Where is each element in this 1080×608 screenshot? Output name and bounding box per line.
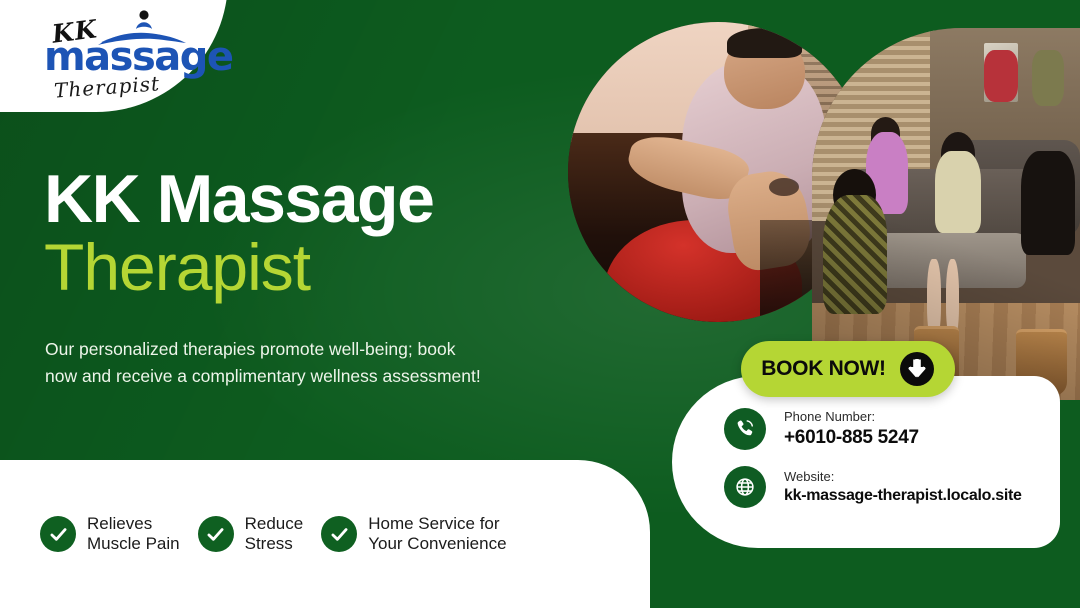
globe-icon: [724, 466, 766, 508]
arrow-down-circle-icon: [899, 351, 935, 387]
features-list: Relieves Muscle Pain Reduce Stress Home …: [40, 514, 507, 555]
feature-item: Home Service for Your Convenience: [321, 514, 506, 555]
brand-logo[interactable]: KK massage Therapist: [34, 15, 194, 97]
feature-item: Relieves Muscle Pain: [40, 514, 180, 555]
check-circle-icon: [321, 516, 357, 552]
book-now-label: BOOK NOW!: [761, 357, 885, 381]
logo-panel: KK massage Therapist: [0, 0, 228, 112]
website-value: kk-massage-therapist.localo.site: [784, 486, 1022, 507]
contact-row-website[interactable]: Website: kk-massage-therapist.localo.sit…: [724, 466, 1022, 508]
contact-card: Phone Number: +6010-885 5247 Website: kk…: [672, 376, 1060, 548]
headline-block: KK Massage Therapist: [44, 166, 564, 303]
headline-secondary: Therapist: [44, 233, 564, 303]
headline-primary: KK Massage: [44, 166, 564, 233]
promotional-banner: KK massage Therapist KK Massage Therapis…: [0, 0, 1080, 608]
check-circle-icon: [40, 516, 76, 552]
subheading-copy: Our personalized therapies promote well-…: [45, 336, 485, 391]
feature-label: Reduce Stress: [245, 514, 304, 555]
logo-massage-text: massage: [44, 37, 233, 77]
website-label: Website:: [784, 469, 834, 484]
phone-value: +6010-885 5247: [784, 426, 919, 451]
contact-row-phone[interactable]: Phone Number: +6010-885 5247: [724, 408, 919, 451]
feature-label: Home Service for Your Convenience: [368, 514, 506, 555]
phone-icon: [724, 408, 766, 450]
phone-label: Phone Number:: [784, 409, 875, 424]
feature-label: Relieves Muscle Pain: [87, 514, 180, 555]
check-circle-icon: [198, 516, 234, 552]
book-now-button[interactable]: BOOK NOW!: [741, 341, 955, 397]
feature-item: Reduce Stress: [198, 514, 304, 555]
features-panel: Relieves Muscle Pain Reduce Stress Home …: [0, 460, 650, 608]
